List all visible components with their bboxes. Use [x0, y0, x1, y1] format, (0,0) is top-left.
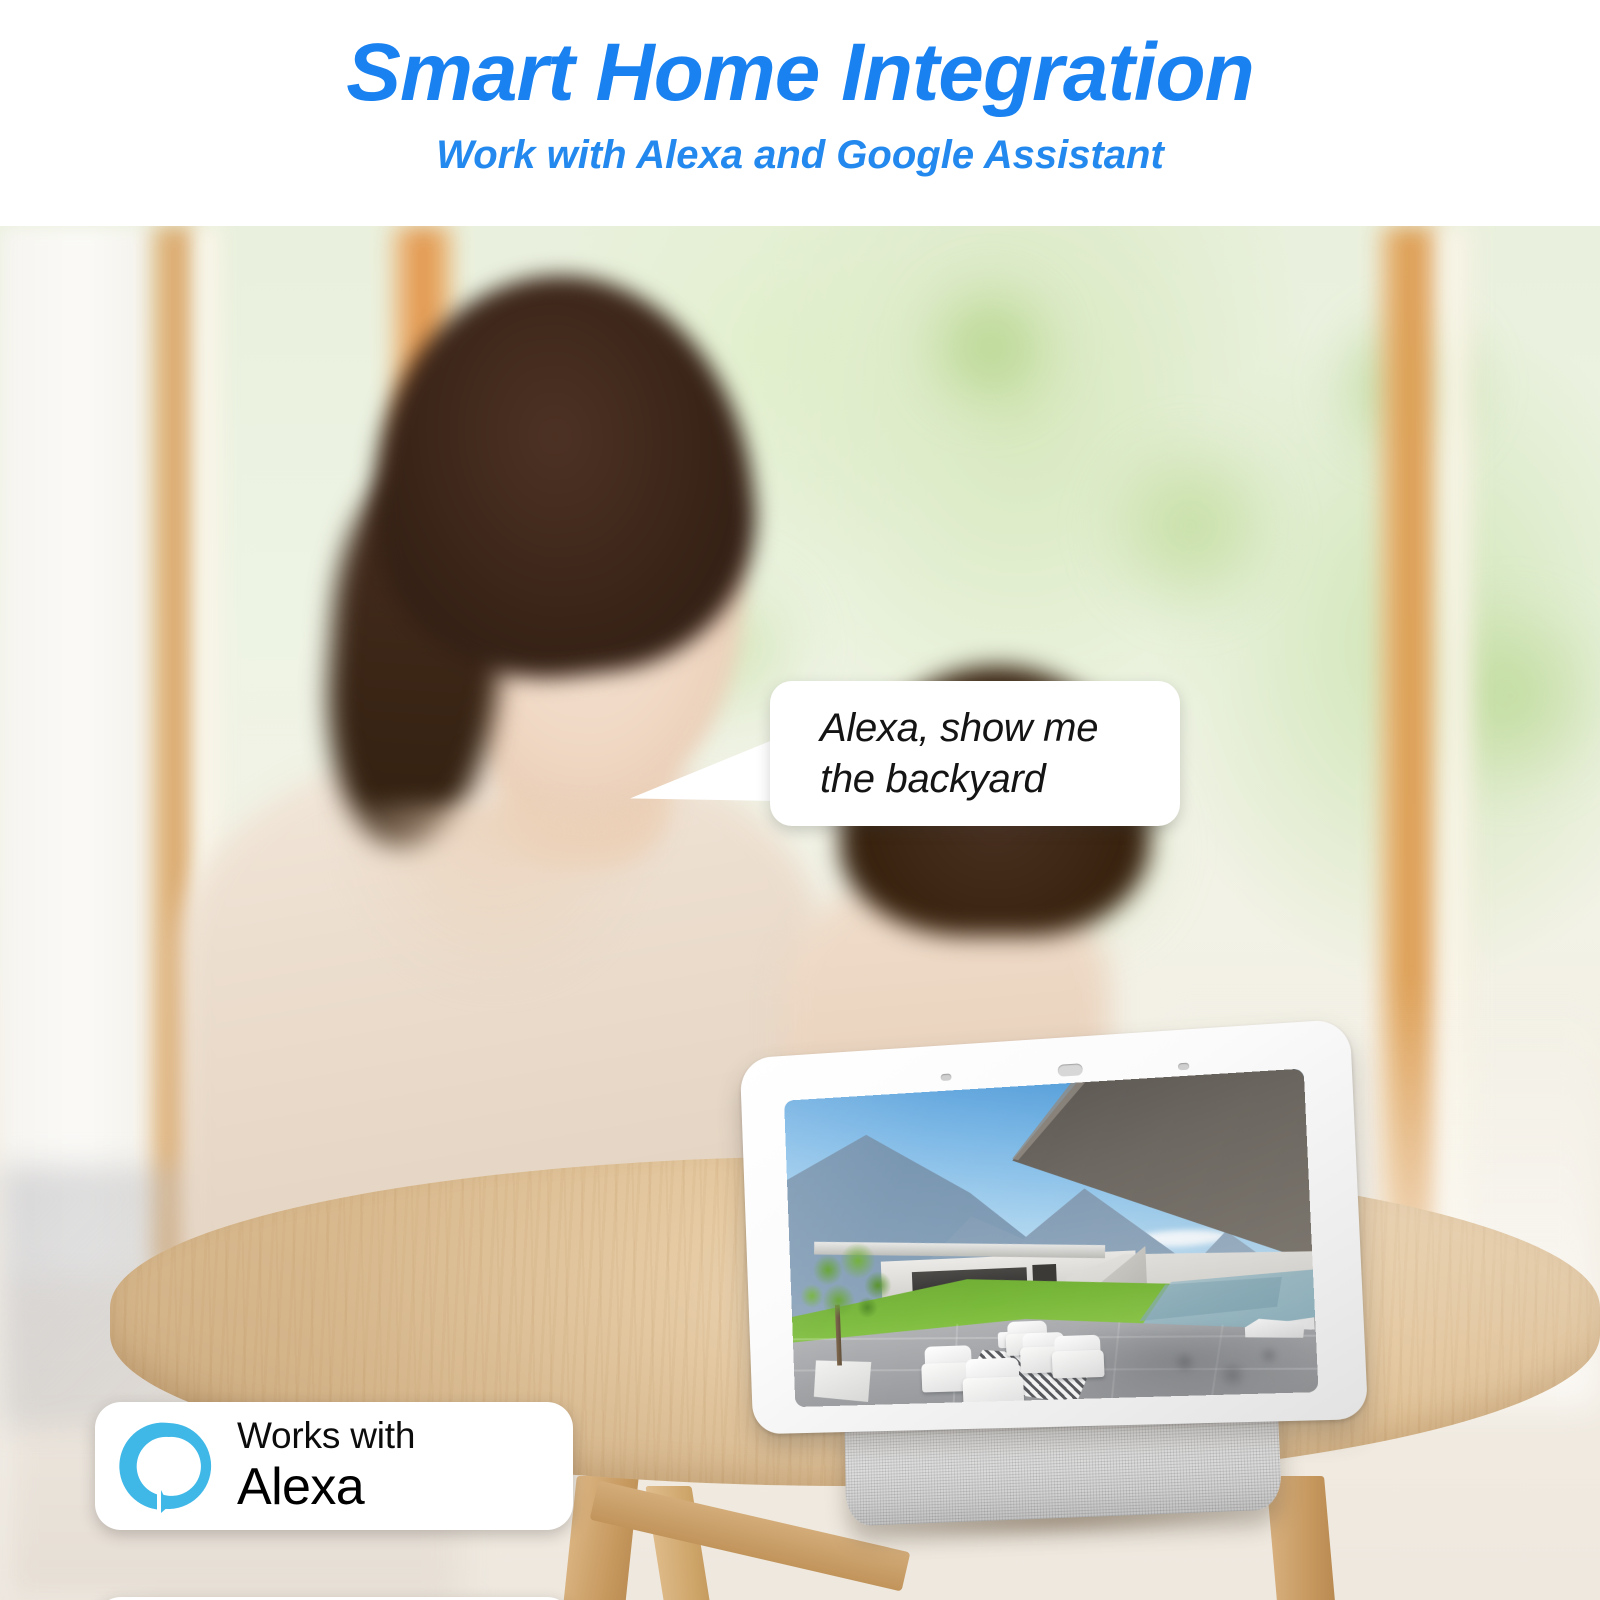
page-title: Smart Home Integration — [0, 30, 1600, 116]
proximity-sensor-icon — [1178, 1063, 1189, 1071]
alexa-badge-text: Works with Alexa — [237, 1416, 415, 1516]
screen-glare — [784, 1069, 1318, 1407]
device-screen[interactable] — [784, 1069, 1318, 1407]
ambient-light-sensor-icon — [941, 1073, 952, 1081]
woman-collar — [330, 806, 660, 996]
speech-bubble: Alexa, show me the backyard — [770, 681, 1180, 826]
alexa-badge-line-2: Alexa — [237, 1458, 415, 1516]
header-banner: Smart Home Integration Work with Alexa a… — [0, 0, 1600, 226]
lifestyle-photo-scene: Alexa, show me the backyard Works with A… — [0, 226, 1600, 1600]
speech-bubble-line-2: the backyard — [820, 754, 1160, 805]
alexa-ring-icon — [119, 1416, 219, 1516]
camera-icon — [1058, 1063, 1083, 1077]
page-root: Smart Home Integration Work with Alexa a… — [0, 0, 1600, 1600]
google-badge-text: Works with Google Assistant — [261, 1595, 573, 1600]
badge-works-with-alexa: Works with Alexa — [95, 1402, 573, 1530]
speech-bubble-line-1: Alexa, show me — [820, 703, 1160, 754]
page-subtitle: Work with Alexa and Google Assistant — [0, 133, 1600, 178]
google-badge-line-1: Works with — [261, 1595, 573, 1600]
speech-bubble-text: Alexa, show me the backyard — [820, 703, 1160, 805]
smart-display-device[interactable] — [714, 1011, 1396, 1550]
alexa-badge-line-1: Works with — [237, 1416, 415, 1456]
